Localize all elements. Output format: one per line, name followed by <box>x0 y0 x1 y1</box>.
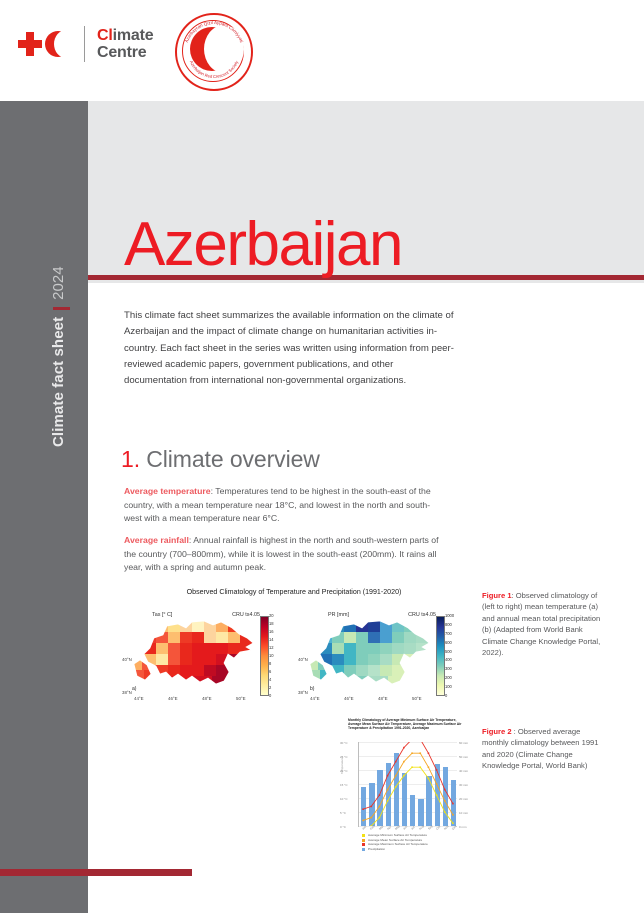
chart-marker <box>411 766 413 768</box>
figure-1-maps: Observed Climatology of Temperature and … <box>118 588 470 706</box>
map-b-xtick-48e: 48°E <box>378 696 388 701</box>
chart-marker <box>395 761 397 763</box>
map-b-colorbar <box>436 616 445 696</box>
figure-2-caption: Figure 2 : Observed average monthly clim… <box>482 726 607 772</box>
header-band: Climate Centre Azərbaycan Qızıl Aypara <box>0 0 644 101</box>
chart-xtick: Oct <box>435 825 441 831</box>
map-b-choropleth <box>296 602 436 706</box>
chart-marker <box>370 806 372 808</box>
figure-2-monthly-climatology-chart: Monthly Climatology of Average Minimum S… <box>336 716 478 866</box>
colorbar-tick: 8 <box>269 662 271 666</box>
colorbar-tick: 800 <box>445 623 452 627</box>
chart-xtick: Dec <box>451 824 458 831</box>
chart-marker <box>362 808 364 810</box>
chart-marker <box>444 811 446 813</box>
logo-climate-prefix: Cl <box>97 27 113 44</box>
logo-divider <box>84 26 85 62</box>
chart-marker <box>444 789 446 791</box>
map-b-ytick-38n: 38°N <box>298 690 308 695</box>
colorbar-tick: 14 <box>269 638 274 642</box>
chart-ytick-left: 15 °C <box>340 783 348 787</box>
chart-ytick-left: 25 °C <box>340 755 348 759</box>
figure-1-caption: Figure 1: Observed climatology of (left … <box>482 590 607 658</box>
figure-1-caption-lead: Figure 1 <box>482 591 512 600</box>
colorbar-tick: 1000 <box>445 614 454 618</box>
chart-ytick-left: 30 °C <box>340 741 348 745</box>
chart-marker <box>403 775 405 777</box>
legend-swatch <box>362 834 365 837</box>
legend-label: Average Minimum Surface Air Temperature <box>368 834 427 837</box>
chart-xtick: Nov <box>443 824 450 831</box>
chart-marker <box>411 752 413 754</box>
chart-marker <box>387 789 389 791</box>
legend-swatch <box>362 843 365 846</box>
map-a-colorbar <box>260 616 269 696</box>
chart-ytick-right: 20 mm <box>459 797 468 801</box>
left-sidebar: Climate fact sheet 2024 <box>0 101 88 913</box>
seal-circular-text: Azərbaycan Qızıl Aypara Cəmiyyəti Azerba… <box>177 15 251 89</box>
paragraph-average-rainfall: Average rainfall: Annual rainfall is hig… <box>124 534 444 575</box>
section-heading: 1. Climate overview <box>121 446 320 473</box>
page-title: Azerbaijan <box>124 214 402 276</box>
figure-2-chart-title: Monthly Climatology of Average Minimum S… <box>348 718 470 731</box>
chart-ytick-right: 50 mm <box>459 755 468 759</box>
climate-centre-logo: Climate Centre <box>18 26 153 62</box>
section-number: 1. <box>121 446 140 472</box>
chart-marker <box>419 766 421 768</box>
colorbar-tick: 300 <box>445 667 452 671</box>
azerbaijan-red-crescent-seal: Azərbaycan Qızıl Aypara Cəmiyyəti Azerba… <box>175 13 253 91</box>
colorbar-tick: 0 <box>445 694 447 698</box>
chart-xtick: Jun <box>402 825 408 831</box>
sidebar-year: 2024 <box>50 266 67 299</box>
legend-swatch <box>362 839 365 842</box>
sidebar-separator <box>53 307 70 310</box>
chart-marker <box>395 775 397 777</box>
chart-marker <box>387 800 389 802</box>
chart-marker <box>436 794 438 796</box>
map-b-xtick-44e: 44°E <box>310 696 320 701</box>
fact-sheet-page: Climate fact sheet 2024 Climate Centre <box>0 0 644 913</box>
map-a-ytick-38n: 38°N <box>122 690 132 695</box>
legend-item: Average Mean Surface Air Temperature <box>362 839 472 842</box>
chart-line <box>363 753 453 820</box>
chart-xtick: Apr <box>386 825 392 831</box>
chart-line-layer <box>359 742 457 826</box>
figure-2-caption-lead: Figure 2 <box>482 727 512 736</box>
intro-paragraph: This climate fact sheet summarizes the a… <box>124 308 454 389</box>
colorbar-tick: 700 <box>445 632 452 636</box>
colorbar-tick: 200 <box>445 676 452 680</box>
map-a-ytick-40n: 40°N <box>122 657 132 662</box>
legend-swatch <box>362 848 365 851</box>
chart-marker <box>379 794 381 796</box>
chart-ytick-right: 60 mm <box>459 741 468 745</box>
colorbar-tick: 16 <box>269 630 274 634</box>
colorbar-tick: 400 <box>445 658 452 662</box>
colorbar-tick: 6 <box>269 670 271 674</box>
chart-marker <box>428 778 430 780</box>
chart-marker <box>362 820 364 822</box>
colorbar-tick: 600 <box>445 641 452 645</box>
colorbar-tick: 12 <box>269 646 274 650</box>
legend-item: Precipitation <box>362 848 472 851</box>
chart-line <box>363 742 453 809</box>
red-cross-icon <box>18 32 42 56</box>
legend-label: Precipitation <box>368 848 385 851</box>
map-a-xtick-50e: 50°E <box>236 696 246 701</box>
bottom-red-accent-bar <box>0 869 192 876</box>
chart-marker <box>428 752 430 754</box>
chart-marker <box>452 803 454 805</box>
legend-item: Average Minimum Surface Air Temperature <box>362 834 472 837</box>
chart-ytick-right: 40 mm <box>459 769 468 773</box>
map-b-ytick-40n: 40°N <box>298 657 308 662</box>
figure-2-legend: Average Minimum Surface Air TemperatureA… <box>362 834 472 853</box>
paragraph-lead-rainfall: Average rainfall <box>124 535 189 545</box>
legend-item: Average Maximum Surface Air Temperature <box>362 843 472 846</box>
chart-marker <box>419 752 421 754</box>
figure-1-caption-text: : Observed climatology of (left to right… <box>482 591 600 657</box>
map-a-xtick-46e: 46°E <box>168 696 178 701</box>
chart-marker <box>428 766 430 768</box>
map-b-xtick-50e: 50°E <box>412 696 422 701</box>
figure-2-plot-area <box>358 742 457 827</box>
chart-marker <box>436 783 438 785</box>
chart-marker <box>379 817 381 819</box>
svg-text:Azerbaijan Red Crescent Societ: Azerbaijan Red Crescent Society <box>189 59 240 79</box>
map-b-xtick-46e: 46°E <box>344 696 354 701</box>
chart-ytick-left: 0 °C <box>340 825 346 829</box>
colorbar-tick: 18 <box>269 622 274 626</box>
map-a-xtick-48e: 48°E <box>202 696 212 701</box>
chart-marker <box>444 800 446 802</box>
colorbar-tick: 100 <box>445 685 452 689</box>
legend-label: Average Maximum Surface Air Temperature <box>368 843 428 846</box>
red-crescent-icon <box>45 31 71 57</box>
colorbar-tick: 10 <box>269 654 274 658</box>
colorbar-tick: 500 <box>445 650 452 654</box>
colorbar-tick: 2 <box>269 686 271 690</box>
map-panel-temperature: Tas [° C] CRU ts4.05 <box>120 602 288 706</box>
chart-marker <box>403 747 405 749</box>
colorbar-tick: 0 <box>269 694 271 698</box>
chart-ytick-left: 10 °C <box>340 797 348 801</box>
chart-ytick-right: 10 mm <box>459 811 468 815</box>
logo-line-climate: Climate <box>97 27 153 44</box>
chart-marker <box>395 786 397 788</box>
figure-1-title: Observed Climatology of Temperature and … <box>118 588 470 596</box>
map-panel-precipitation: PR [mm] CRU ts4.05 <box>296 602 464 706</box>
map-b-panel-tag: b) <box>310 686 314 692</box>
paragraph-lead-temperature: Average temperature <box>124 486 211 496</box>
paragraph-average-temperature: Average temperature: Temperatures tend t… <box>124 485 444 526</box>
svg-text:Azərbaycan Qızıl Aypara Cəmiyy: Azərbaycan Qızıl Aypara Cəmiyyəti <box>184 20 244 43</box>
chart-marker <box>370 817 372 819</box>
chart-ytick-right: 0 mm <box>459 825 467 829</box>
header-logo-card: Climate Centre Azərbaycan Qızıl Aypara <box>0 0 270 101</box>
section-title: Climate overview <box>146 446 320 472</box>
sidebar-label-text: Climate fact sheet <box>50 317 67 447</box>
chart-ytick-left: 20 °C <box>340 769 348 773</box>
colorbar-tick: 20 <box>269 614 274 618</box>
logo-line-centre: Centre <box>97 44 153 61</box>
chart-marker <box>452 814 454 816</box>
map-a-panel-tag: a) <box>132 686 136 692</box>
chart-marker <box>436 769 438 771</box>
chart-marker <box>403 761 405 763</box>
chart-ytick-right: 30 mm <box>459 783 468 787</box>
logo-climate-rest: imate <box>113 27 154 44</box>
map-a-choropleth <box>120 602 260 706</box>
colorbar-tick: 4 <box>269 678 271 682</box>
chart-marker <box>379 806 381 808</box>
map-a-xtick-44e: 44°E <box>134 696 144 701</box>
legend-label: Average Mean Surface Air Temperature <box>368 839 422 842</box>
chart-ytick-left: 5 °C <box>340 811 346 815</box>
chart-marker <box>387 775 389 777</box>
logo-wordmark: Climate Centre <box>97 27 153 62</box>
sidebar-vertical-label: Climate fact sheet 2024 <box>38 187 78 447</box>
cross-crescent-emblem <box>18 27 80 61</box>
